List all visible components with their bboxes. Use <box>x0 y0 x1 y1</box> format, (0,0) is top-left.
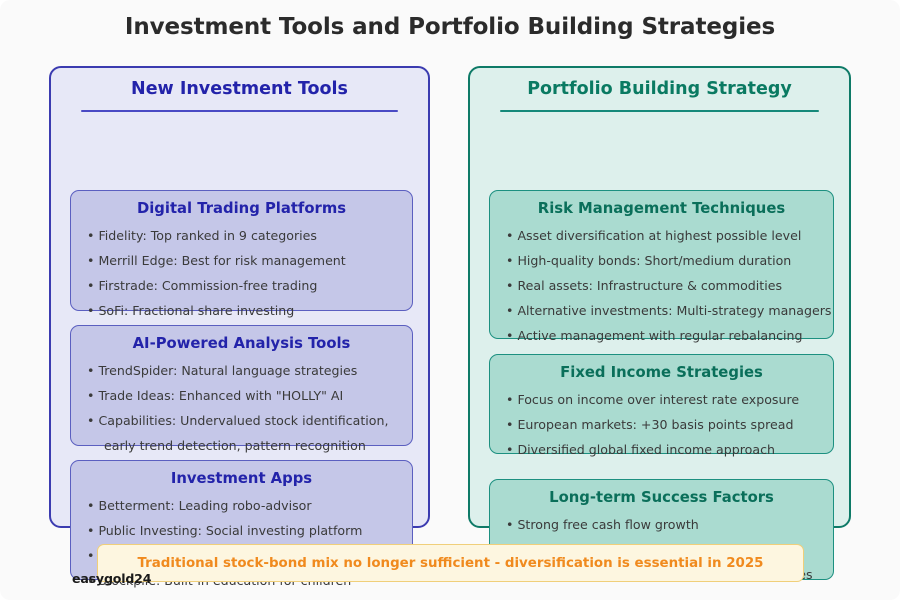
list-item: •SoFi: Fractional share investing <box>87 298 402 323</box>
bullet-icon: • <box>87 548 94 563</box>
card-title: Long-term Success Factors <box>490 489 833 506</box>
list-item-text: European markets: +30 basis points sprea… <box>517 417 793 432</box>
bullet-icon: • <box>506 517 513 532</box>
bullet-icon: • <box>506 442 513 457</box>
list-item-text: Firstrade: Commission-free trading <box>98 278 317 293</box>
list-item-text: SoFi: Fractional share investing <box>98 303 294 318</box>
bullet-icon: • <box>87 498 94 513</box>
list-item-text: Betterment: Leading robo-advisor <box>98 498 311 513</box>
bullet-icon: • <box>87 523 94 538</box>
list-item-text: Focus on income over interest rate expos… <box>517 392 799 407</box>
list-item-text: Merrill Edge: Best for risk management <box>98 253 345 268</box>
bullet-icon: • <box>87 278 94 293</box>
list-item-text: Trade Ideas: Enhanced with "HOLLY" AI <box>98 388 343 403</box>
card-fixed-income-strategies: Fixed Income Strategies •Focus on income… <box>489 354 834 454</box>
list-item-text: early trend detection, pattern recogniti… <box>104 438 366 453</box>
list-item: •Real assets: Infrastructure & commoditi… <box>506 273 823 298</box>
list-item-text: Public Investing: Social investing platf… <box>98 523 362 538</box>
list-item: •Firstrade: Commission-free trading <box>87 273 402 298</box>
bullet-icon: • <box>506 253 513 268</box>
bullet-list: •TrendSpider: Natural language strategie… <box>71 358 412 458</box>
bullet-icon: • <box>506 228 513 243</box>
bullet-icon: • <box>506 392 513 407</box>
list-item-text: TrendSpider: Natural language strategies <box>98 363 357 378</box>
page-title: Investment Tools and Portfolio Building … <box>0 14 900 40</box>
list-item-text: Diversified global fixed income approach <box>517 442 775 457</box>
card-title: Investment Apps <box>71 470 412 487</box>
list-item-text: Fidelity: Top ranked in 9 categories <box>98 228 317 243</box>
list-item: •Diversified global fixed income approac… <box>506 437 823 462</box>
panel-left-title: New Investment Tools <box>51 79 428 99</box>
bullet-list: •Focus on income over interest rate expo… <box>490 387 833 462</box>
bullet-icon: • <box>87 253 94 268</box>
card-risk-management-techniques: Risk Management Techniques •Asset divers… <box>489 190 834 339</box>
list-item: •Capabilities: Undervalued stock identif… <box>87 408 402 433</box>
bullet-icon: • <box>87 228 94 243</box>
card-title: Risk Management Techniques <box>490 200 833 217</box>
panel-right-divider <box>500 110 819 112</box>
bullet-icon: • <box>506 278 513 293</box>
list-item: •Active management with regular rebalanc… <box>506 323 823 348</box>
list-item: •Public Investing: Social investing plat… <box>87 518 402 543</box>
panel-right-title: Portfolio Building Strategy <box>470 79 849 99</box>
bullet-list: •Fidelity: Top ranked in 9 categories •M… <box>71 223 412 323</box>
bullet-list: •Asset diversification at highest possib… <box>490 223 833 348</box>
bullet-icon: • <box>87 303 94 318</box>
bullet-icon: • <box>87 388 94 403</box>
list-item-text: Strong free cash flow growth <box>517 517 698 532</box>
list-item: •Fidelity: Top ranked in 9 categories <box>87 223 402 248</box>
bullet-icon: • <box>506 328 513 343</box>
list-item: •European markets: +30 basis points spre… <box>506 412 823 437</box>
footer-callout-banner: Traditional stock-bond mix no longer suf… <box>97 544 804 582</box>
panel-portfolio-building-strategy: Portfolio Building Strategy Risk Managem… <box>468 66 851 528</box>
list-item-continuation: early trend detection, pattern recogniti… <box>87 433 402 458</box>
list-item: •Merrill Edge: Best for risk management <box>87 248 402 273</box>
bullet-icon: • <box>506 417 513 432</box>
list-item-text: High-quality bonds: Short/medium duratio… <box>517 253 791 268</box>
card-title: Fixed Income Strategies <box>490 364 833 381</box>
watermark: easygold24 <box>72 571 151 586</box>
list-item-text: Alternative investments: Multi-strategy … <box>517 303 831 318</box>
footer-callout-text: Traditional stock-bond mix no longer suf… <box>137 556 763 571</box>
list-item: •Strong free cash flow growth <box>506 512 823 537</box>
list-item: •Asset diversification at highest possib… <box>506 223 823 248</box>
list-item: •High-quality bonds: Short/medium durati… <box>506 248 823 273</box>
list-item-text: Capabilities: Undervalued stock identifi… <box>98 413 388 428</box>
list-item-text: Active management with regular rebalanci… <box>517 328 802 343</box>
list-item: •TrendSpider: Natural language strategie… <box>87 358 402 383</box>
list-item: •Alternative investments: Multi-strategy… <box>506 298 823 323</box>
card-title: Digital Trading Platforms <box>71 200 412 217</box>
list-item: •Betterment: Leading robo-advisor <box>87 493 402 518</box>
list-item: •Focus on income over interest rate expo… <box>506 387 823 412</box>
bullet-icon: • <box>87 413 94 428</box>
card-ai-powered-analysis-tools: AI-Powered Analysis Tools •TrendSpider: … <box>70 325 413 446</box>
panel-left-divider <box>81 110 398 112</box>
list-item: •Trade Ideas: Enhanced with "HOLLY" AI <box>87 383 402 408</box>
bullet-icon: • <box>87 363 94 378</box>
list-item-text: Real assets: Infrastructure & commoditie… <box>517 278 782 293</box>
panel-new-investment-tools: New Investment Tools Digital Trading Pla… <box>49 66 430 528</box>
list-item-text: Asset diversification at highest possibl… <box>517 228 801 243</box>
card-digital-trading-platforms: Digital Trading Platforms •Fidelity: Top… <box>70 190 413 311</box>
infographic-canvas: Investment Tools and Portfolio Building … <box>0 0 900 600</box>
bullet-icon: • <box>506 303 513 318</box>
card-title: AI-Powered Analysis Tools <box>71 335 412 352</box>
